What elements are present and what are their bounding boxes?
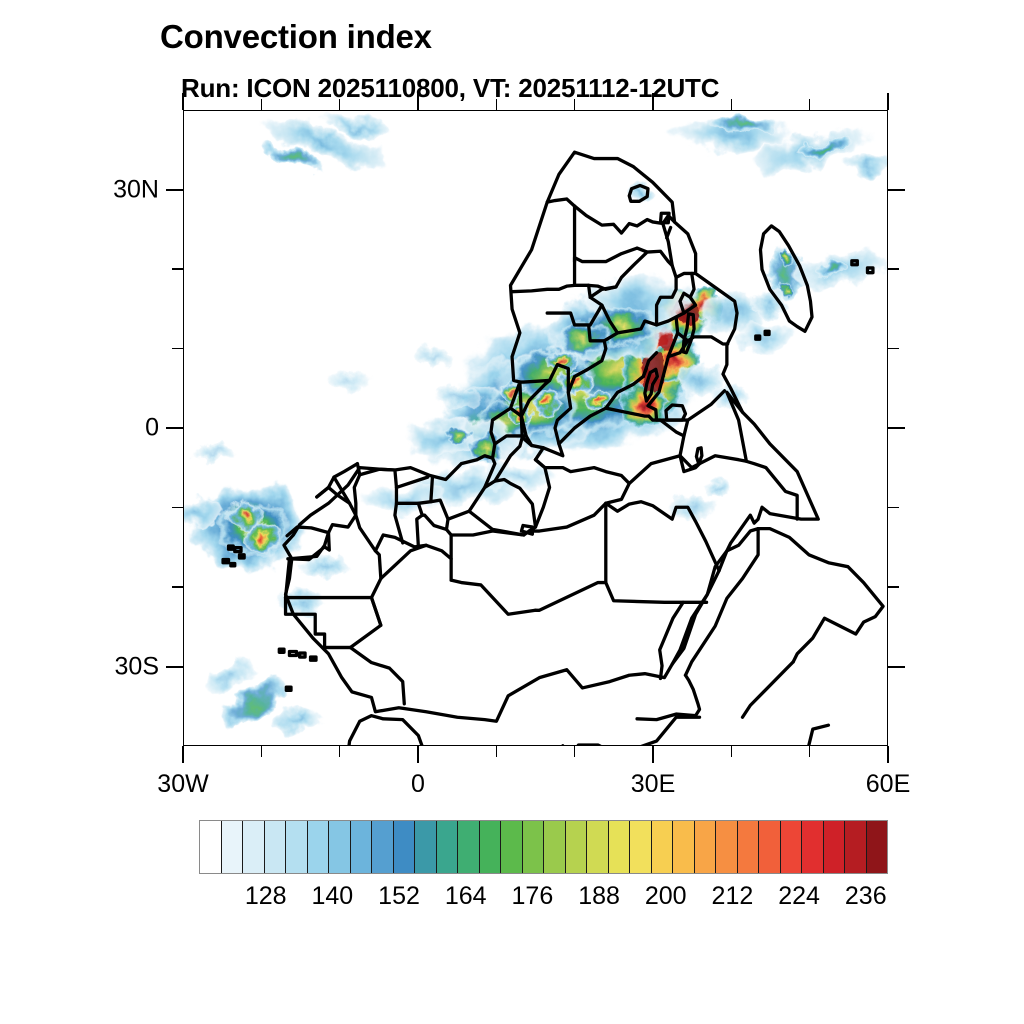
colorbar-cell (308, 821, 330, 873)
x-tick-bottom (417, 746, 419, 763)
x-tick-top (496, 99, 498, 110)
x-tick-top (731, 99, 733, 110)
x-axis-label: 30W (157, 770, 208, 799)
x-tick-top (809, 99, 811, 110)
colorbar-cell (759, 821, 781, 873)
colorbar-cell (437, 821, 459, 873)
colorbar-cell (716, 821, 738, 873)
colorbar-tick-label: 164 (445, 882, 487, 911)
y-tick-right (888, 586, 899, 588)
x-tick-top (887, 93, 889, 110)
colorbar-tick-label: 224 (778, 882, 820, 911)
x-tick-bottom (182, 746, 184, 763)
colorbar-cell (200, 821, 222, 873)
y-tick-left (172, 507, 183, 509)
x-tick-bottom (574, 746, 576, 757)
y-tick-right (888, 666, 905, 668)
colorbar-tick-label: 152 (378, 882, 420, 911)
colorbar-cell (265, 821, 287, 873)
colorbar-cell (802, 821, 824, 873)
x-tick-top (652, 93, 654, 110)
x-tick-bottom (339, 746, 341, 757)
colorbar-cell (630, 821, 652, 873)
colorbar-cell (673, 821, 695, 873)
y-tick-right (888, 348, 899, 350)
colorbar-cell (501, 821, 523, 873)
x-tick-bottom (652, 746, 654, 763)
x-tick-bottom (731, 746, 733, 757)
colorbar-tick-label: 140 (311, 882, 353, 911)
y-axis-label: 0 (145, 414, 159, 443)
colorbar-cell (845, 821, 867, 873)
x-axis-label: 60E (866, 770, 910, 799)
colorbar-tick-label: 236 (845, 882, 887, 911)
y-axis-label: 30N (113, 175, 159, 204)
x-tick-top (417, 93, 419, 110)
y-tick-right (888, 427, 905, 429)
y-tick-left (172, 348, 183, 350)
colorbar-cell (222, 821, 244, 873)
colorbar-tick-label: 128 (245, 882, 287, 911)
colorbar-tick-label: 188 (578, 882, 620, 911)
colorbar-cell (394, 821, 416, 873)
colorbar-cell (415, 821, 437, 873)
colorbar-cell (329, 821, 351, 873)
colorbar-cell (286, 821, 308, 873)
colorbar-cell (587, 821, 609, 873)
colorbar-tick-label: 176 (512, 882, 554, 911)
x-tick-top (339, 99, 341, 110)
x-tick-top (182, 93, 184, 110)
colorbar-tick-label: 212 (712, 882, 754, 911)
x-tick-top (574, 99, 576, 110)
colorbar[interactable] (199, 820, 888, 874)
x-tick-top (261, 99, 263, 110)
x-axis-label: 0 (411, 770, 425, 799)
colorbar-cell (351, 821, 373, 873)
colorbar-cell (781, 821, 803, 873)
y-tick-left (172, 586, 183, 588)
colorbar-cell (480, 821, 502, 873)
colorbar-cell (372, 821, 394, 873)
y-tick-right (888, 189, 905, 191)
convection-field (184, 111, 887, 735)
colorbar-cell (523, 821, 545, 873)
y-axis-label: 30S (115, 652, 159, 681)
y-tick-left (172, 268, 183, 270)
x-axis-label: 30E (631, 770, 675, 799)
colorbar-cell (824, 821, 846, 873)
y-tick-left (166, 427, 183, 429)
chart-subtitle: Run: ICON 2025110800, VT: 20251112-12UTC (181, 75, 719, 101)
chart-title: Convection index (160, 20, 432, 53)
y-tick-right (888, 268, 899, 270)
colorbar-cell (738, 821, 760, 873)
figure-canvas: Convection index Run: ICON 2025110800, V… (0, 0, 1024, 1024)
x-tick-bottom (887, 746, 889, 763)
x-tick-bottom (261, 746, 263, 757)
colorbar-tick-label: 200 (645, 882, 687, 911)
map-svg (184, 111, 887, 745)
x-tick-bottom (496, 746, 498, 757)
x-tick-bottom (809, 746, 811, 757)
colorbar-cell (458, 821, 480, 873)
colorbar-cell (544, 821, 566, 873)
map-plot-area[interactable] (183, 110, 888, 746)
colorbar-cell (609, 821, 631, 873)
colorbar-cell (243, 821, 265, 873)
colorbar-cell (652, 821, 674, 873)
y-tick-right (888, 507, 899, 509)
colorbar-cell (566, 821, 588, 873)
colorbar-cell (867, 821, 888, 873)
colorbar-cell (695, 821, 717, 873)
y-tick-left (166, 189, 183, 191)
colorbar-tick-labels: 128140152164176188200212224236 (199, 882, 888, 916)
y-tick-left (166, 666, 183, 668)
